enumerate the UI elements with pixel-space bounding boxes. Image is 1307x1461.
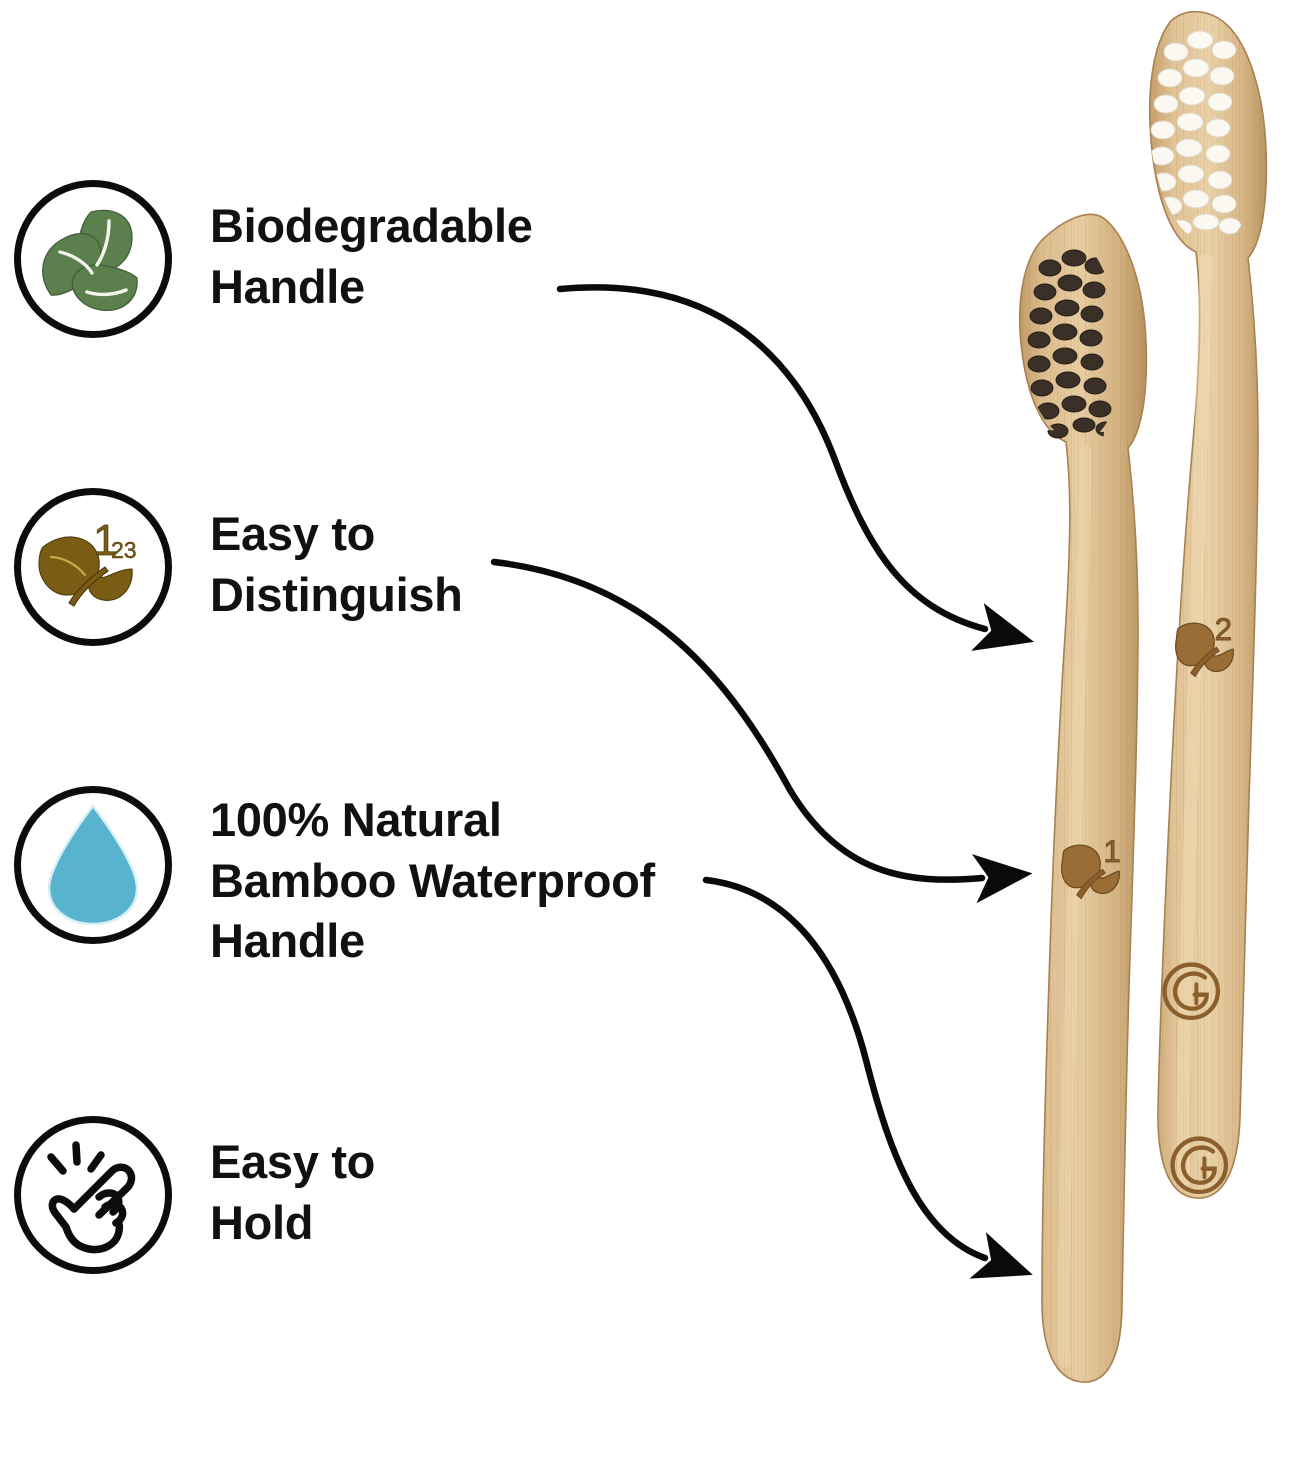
feature-label-easy-to-distinguish: Easy to Distinguish [210, 488, 463, 625]
feature-label-biodegradable-handle: Biodegradable Handle [210, 180, 533, 317]
arrow-biodegradable-to-brush-head [560, 287, 985, 629]
tapping-hand-icon [33, 1135, 153, 1255]
bamboo-toothbrush-pair: 2 [1000, 0, 1307, 1461]
badge-natural-bamboo-waterproof-handle [14, 786, 172, 944]
three-leaves-recycle-icon [29, 195, 157, 323]
feature-natural-bamboo-waterproof-handle: 100% Natural Bamboo Waterproof Handle [14, 786, 655, 972]
water-droplet-icon [37, 800, 149, 930]
numbered-leaf-icon: 1 23 [33, 507, 153, 627]
feature-label-natural-bamboo-waterproof-handle: 100% Natural Bamboo Waterproof Handle [210, 786, 655, 972]
badge-easy-to-distinguish: 1 23 [14, 488, 172, 646]
badge-biodegradable-handle [14, 180, 172, 338]
infographic-canvas: Biodegradable Handle [0, 0, 1307, 1461]
feature-biodegradable-handle: Biodegradable Handle [14, 180, 533, 338]
feature-easy-to-distinguish: 1 23 Easy to Distinguish [14, 488, 463, 646]
brush-2-white: 2 [1150, 12, 1267, 1198]
feature-label-easy-to-hold: Easy to Hold [210, 1116, 375, 1253]
numbered-leaf-icon-number-small: 23 [111, 537, 137, 563]
brush-2-number-label: 2 [1215, 612, 1232, 647]
badge-easy-to-hold [14, 1116, 172, 1274]
feature-easy-to-hold: Easy to Hold [14, 1116, 375, 1274]
arrow-easy-to-hold-to-grip [706, 880, 985, 1258]
brush-1-number-label: 1 [1103, 834, 1120, 869]
